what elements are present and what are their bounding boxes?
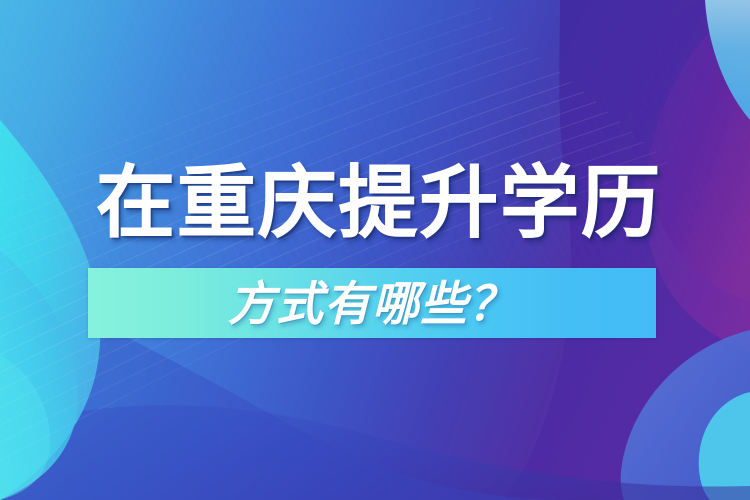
promo-banner: 在 重 庆 提 升 学 历 方式有哪些？ [0, 0, 750, 500]
line-texture-diagonal [0, 0, 750, 500]
subtitle-band [88, 268, 656, 338]
